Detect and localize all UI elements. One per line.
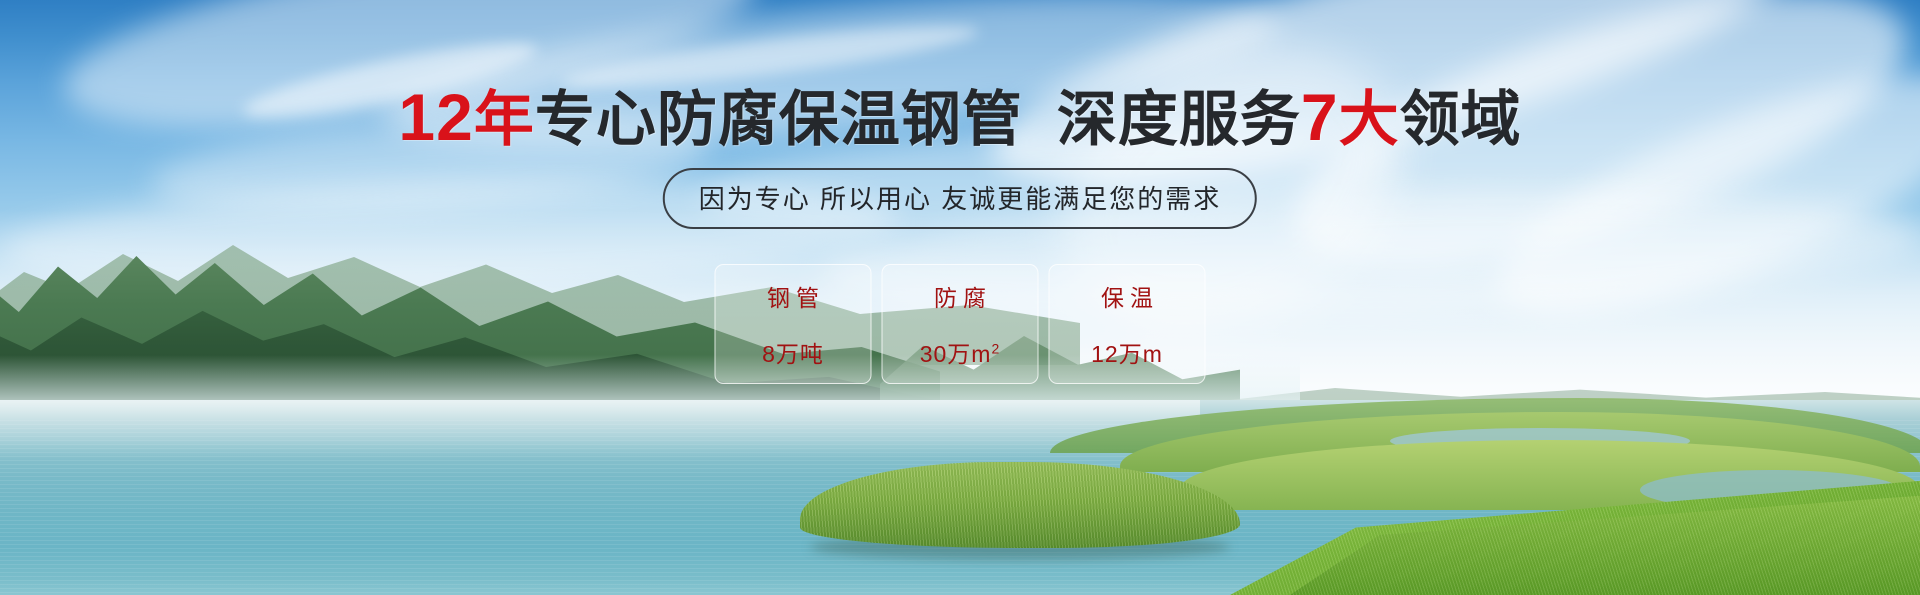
headline-service-text: 深度服务: [1057, 86, 1301, 153]
stat-card-insulation[interactable]: 保温 12万m: [1049, 264, 1206, 384]
stat-card-value-sup: 2: [991, 340, 1000, 356]
stat-card-value: 12万m: [1091, 335, 1163, 369]
stat-card-title: 防腐: [928, 279, 992, 313]
stat-card-anticorrosion[interactable]: 防腐 30万m2: [882, 264, 1039, 384]
stat-card-steel-pipe[interactable]: 钢管 8万吨: [715, 264, 872, 384]
headline-main-text: 专心防腐保温钢管: [535, 86, 1023, 153]
promo-banner: 12年专心防腐保温钢管深度服务7大领域 因为专心 所以用心 友诚更能满足您的需求…: [0, 0, 1920, 595]
headline-years-number: 12: [398, 80, 473, 154]
stat-card-value: 30万m2: [920, 335, 1001, 369]
slogan-pill: 因为专心 所以用心 友诚更能满足您的需求: [663, 168, 1257, 229]
headline-years-unit: 年: [474, 86, 535, 153]
headline-fields-number: 7: [1301, 80, 1339, 154]
stat-card-value-text: 30万m: [920, 341, 992, 367]
stat-card-value-text: 12万m: [1091, 341, 1163, 367]
stat-card-title: 保温: [1095, 279, 1159, 313]
stat-card-value-text: 8万吨: [762, 341, 824, 367]
banner-content: 12年专心防腐保温钢管深度服务7大领域 因为专心 所以用心 友诚更能满足您的需求…: [0, 0, 1920, 595]
stat-cards: 钢管 8万吨 防腐 30万m2 保温 12万m: [715, 264, 1206, 384]
stat-card-title: 钢管: [761, 279, 825, 313]
stat-card-value: 8万吨: [762, 335, 824, 369]
headline: 12年专心防腐保温钢管深度服务7大领域: [0, 84, 1920, 150]
headline-fields-unit: 大: [1339, 86, 1400, 153]
headline-fields-text: 领域: [1400, 86, 1522, 153]
